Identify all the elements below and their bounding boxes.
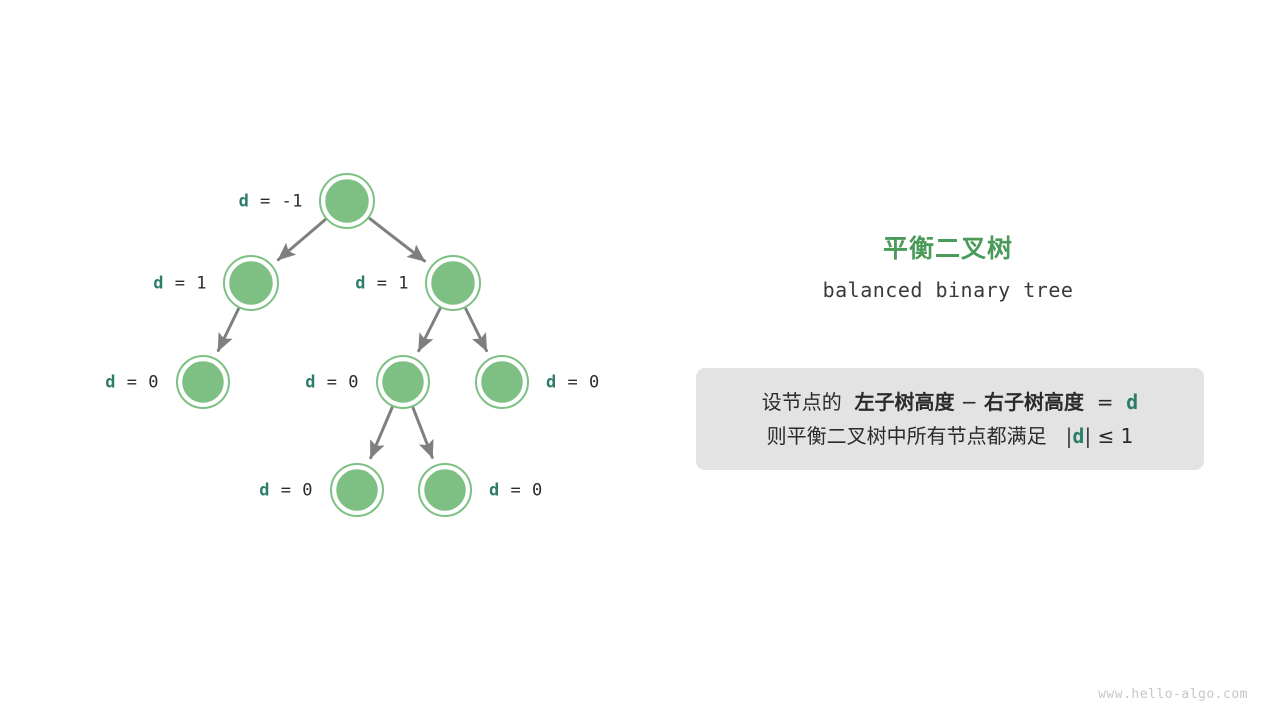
figure-title: 平衡二叉树 [660, 229, 1236, 265]
equals-sign: = [1097, 390, 1114, 414]
watermark: www.hello-algo.com [1098, 687, 1248, 702]
balance-factor-variable: d [153, 274, 164, 294]
balance-factor-value: = 1 [164, 274, 207, 294]
tree-edge [466, 309, 487, 351]
balance-factor-value: = 0 [500, 481, 543, 501]
abs-bar-right: | [1084, 424, 1091, 448]
balance-factor-label: d = 1 [355, 276, 409, 293]
caption-panel: 平衡二叉树 balanced binary tree 设节点的 左子树高度 − … [660, 0, 1280, 720]
definition-condition-text: 则平衡二叉树中所有节点都满足 [767, 424, 1047, 448]
balance-factor-label: d = 0 [259, 483, 313, 500]
tree-node[interactable] [426, 256, 480, 310]
balance-factor-variable: d [355, 274, 366, 294]
node-disc [430, 260, 476, 306]
node-disc [181, 360, 225, 404]
balance-factor-value: = 1 [366, 274, 409, 294]
balance-factor-value: = 0 [270, 481, 313, 501]
balance-factor-value: = 0 [116, 373, 159, 393]
tree-node[interactable] [419, 464, 471, 516]
tree-node[interactable] [224, 256, 278, 310]
tree-graphic [0, 0, 660, 720]
definition-box: 设节点的 左子树高度 − 右子树高度 = d 则平衡二叉树中所有节点都满足 |d… [696, 368, 1204, 470]
definition-right-subtree-height: 右子树高度 [984, 390, 1084, 414]
definition-left-subtree-height: 左子树高度 [854, 390, 954, 414]
tree-edge [218, 309, 238, 350]
tree-edge [419, 309, 440, 351]
balance-factor-variable: d [546, 373, 557, 393]
balance-factor-label: d = 1 [153, 276, 207, 293]
diagram-canvas: d = -1d = 1d = 1d = 0d = 0d = 0d = 0d = … [0, 0, 1280, 720]
balance-factor-label: d = 0 [105, 375, 159, 392]
tree-node[interactable] [377, 356, 429, 408]
balance-condition: ≤ 1 [1098, 424, 1134, 448]
node-disc [324, 178, 370, 224]
node-disc [381, 360, 425, 404]
node-disc [335, 468, 379, 512]
tree-edge [370, 219, 425, 261]
node-disc [480, 360, 524, 404]
balance-factor-label: d = 0 [305, 375, 359, 392]
definition-variable-d-abs: d [1072, 424, 1084, 448]
tree-edges [218, 219, 486, 458]
figure-subtitle: balanced binary tree [660, 278, 1236, 302]
balance-factor-value: = 0 [316, 373, 359, 393]
balance-factor-variable: d [489, 481, 500, 501]
definition-line-1: 设节点的 左子树高度 − 右子树高度 = d [696, 385, 1204, 419]
minus-sign: − [961, 390, 978, 414]
balance-factor-value: = -1 [249, 192, 303, 212]
tree-node[interactable] [331, 464, 383, 516]
tree-node[interactable] [320, 174, 374, 228]
tree-edge [413, 408, 432, 457]
balance-factor-label: d = -1 [239, 194, 303, 211]
tree-nodes [177, 174, 528, 516]
balance-factor-variable: d [239, 192, 250, 212]
binary-tree-figure: d = -1d = 1d = 1d = 0d = 0d = 0d = 0d = … [0, 0, 660, 720]
balance-factor-value: = 0 [557, 373, 600, 393]
balance-factor-variable: d [305, 373, 316, 393]
node-disc [228, 260, 274, 306]
balance-factor-variable: d [259, 481, 270, 501]
node-disc [423, 468, 467, 512]
balance-factor-variable: d [105, 373, 116, 393]
balance-factor-label: d = 0 [489, 483, 543, 500]
tree-node[interactable] [476, 356, 528, 408]
definition-variable-d: d [1126, 390, 1138, 414]
definition-prefix: 设节点的 [762, 390, 842, 414]
tree-edge [278, 220, 325, 260]
balance-factor-label: d = 0 [546, 375, 600, 392]
definition-line-2: 则平衡二叉树中所有节点都满足 |d| ≤ 1 [696, 419, 1204, 453]
tree-edge [371, 408, 392, 458]
tree-node[interactable] [177, 356, 229, 408]
